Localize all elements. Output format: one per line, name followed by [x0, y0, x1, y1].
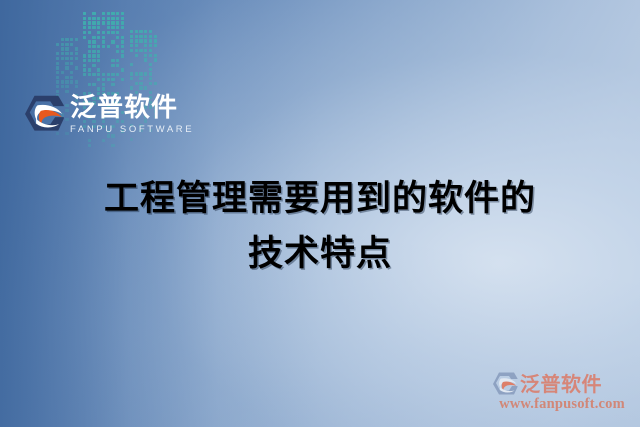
page-title-line-1: 工程管理需要用到的软件的	[50, 172, 590, 227]
brand-name-cn: 泛普软件	[70, 94, 194, 122]
watermark-logo-row: 泛普软件	[492, 372, 632, 396]
brand-name-en: FANPU SOFTWARE	[70, 124, 194, 135]
slide-canvas: 泛普软件 FANPU SOFTWARE 工程管理需要用到的软件的 技术特点 泛普…	[0, 0, 640, 427]
watermark: 泛普软件 www.fanpusoft.com	[492, 372, 632, 413]
pixel-mosaic-icon	[56, 4, 152, 90]
brand-logo: 泛普软件 FANPU SOFTWARE	[24, 94, 194, 135]
watermark-name-cn: 泛普软件	[520, 373, 602, 395]
page-title: 工程管理需要用到的软件的 技术特点	[50, 172, 590, 282]
fanpu-watermark-mark-icon	[492, 372, 518, 396]
watermark-url: www.fanpusoft.com	[492, 396, 632, 413]
brand-text-block: 泛普软件 FANPU SOFTWARE	[70, 94, 194, 135]
fanpu-hexagon-mark-icon	[24, 95, 64, 133]
page-title-line-2: 技术特点	[50, 227, 590, 282]
